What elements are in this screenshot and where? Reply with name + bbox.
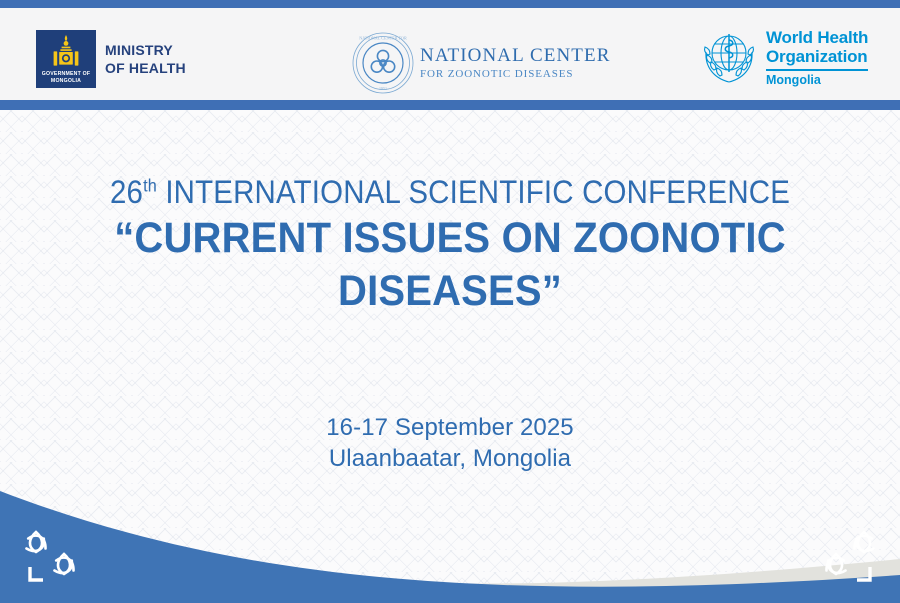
nczd-seal-icon: NATIONAL CENTER FOR 1951 xyxy=(352,32,414,94)
national-center-zoonotic-diseases-logo: NATIONAL CENTER FOR 1951 NATIONAL CENTER… xyxy=(352,32,610,94)
emblem-caption: GOVERNMENT OF MONGOLIA xyxy=(36,71,96,85)
mongolia-government-emblem: GOVERNMENT OF MONGOLIA xyxy=(36,30,96,88)
top-accent-bar xyxy=(0,0,900,8)
ministry-of-health-logo: GOVERNMENT OF MONGOLIA MINISTRY OF HEALT… xyxy=(36,30,186,88)
nczd-wordmark: NATIONAL CENTER FOR ZOONOTIC DISEASES xyxy=(420,45,610,81)
wave-shapes xyxy=(0,463,900,603)
header-divider-bar xyxy=(0,100,900,110)
conference-theme-line1: “CURRENT ISSUES ON ZOONOTIC xyxy=(32,212,869,265)
who-divider-rule xyxy=(766,69,868,71)
conference-heading-text: INTERNATIONAL SCIENTIFIC CONFERENCE xyxy=(157,174,790,210)
moh-label-line1: MINISTRY xyxy=(105,41,186,59)
who-name-line2: Organization xyxy=(766,47,868,66)
logo-header-band: GOVERNMENT OF MONGOLIA MINISTRY OF HEALT… xyxy=(0,8,900,100)
who-wordmark: World Health Organization Mongolia xyxy=(766,28,868,87)
title-block: 26th INTERNATIONAL SCIENTIFIC CONFERENCE… xyxy=(0,172,900,318)
conference-heading: 26th INTERNATIONAL SCIENTIFIC CONFERENCE xyxy=(36,172,864,212)
nczd-seal-year: 1951 xyxy=(379,86,387,91)
triquetra-ornament-left xyxy=(16,525,92,587)
bottom-wave-decoration xyxy=(0,463,900,603)
event-date: 16-17 September 2025 xyxy=(0,412,900,443)
conference-ordinal-suffix: th xyxy=(143,175,157,195)
moh-label-line2: OF HEALTH xyxy=(105,59,186,77)
nczd-name-line2: FOR ZOONOTIC DISEASES xyxy=(420,67,610,81)
wave-blue xyxy=(0,491,900,603)
who-name-line1: World Health xyxy=(766,28,868,47)
soyombo-icon xyxy=(49,34,83,74)
who-country-label: Mongolia xyxy=(766,73,868,87)
who-mongolia-logo: World Health Organization Mongolia xyxy=(700,28,868,87)
svg-text:NATIONAL CENTER FOR: NATIONAL CENTER FOR xyxy=(359,36,407,41)
nczd-name-line1: NATIONAL CENTER xyxy=(420,45,610,67)
triquetra-ornament-right xyxy=(808,525,884,587)
conference-number: 26 xyxy=(110,174,143,210)
who-emblem-icon xyxy=(700,28,758,86)
emblem-caption-line1: GOVERNMENT OF xyxy=(42,71,90,77)
emblem-caption-line2: MONGOLIA xyxy=(51,78,81,84)
conference-theme-line2: DISEASES” xyxy=(32,265,869,318)
conference-title-slide: GOVERNMENT OF MONGOLIA MINISTRY OF HEALT… xyxy=(0,0,900,603)
ministry-of-health-label: MINISTRY OF HEALTH xyxy=(105,41,186,77)
